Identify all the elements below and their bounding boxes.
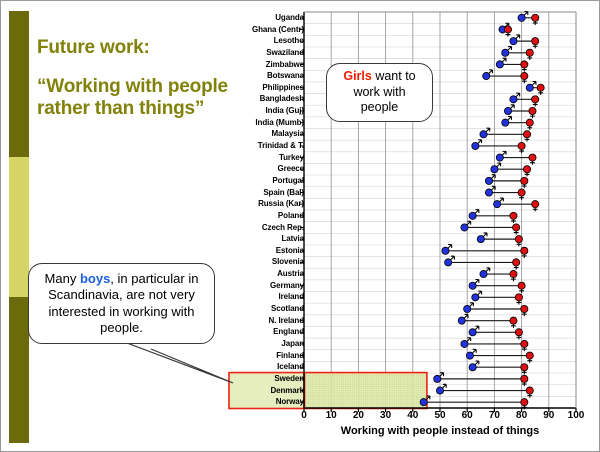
y-axis-label: India (Mumb) <box>229 117 304 129</box>
x-axis-tick-label: 30 <box>380 410 391 421</box>
y-axis-label: Austria <box>229 268 304 280</box>
y-axis-label: Latvia <box>229 233 304 245</box>
x-axis-tick-labels: 0102030405060708090100 <box>1 410 600 424</box>
y-axis-label: Portugal <box>229 175 304 187</box>
y-axis-label: India (Guj) <box>229 105 304 117</box>
y-axis-label: Estonia <box>229 245 304 257</box>
y-axis-label: Russia (Kar) <box>229 198 304 210</box>
y-axis-label: Malaysia <box>229 128 304 140</box>
y-axis-label: Ghana (Centr) <box>229 24 304 36</box>
callout-boys[interactable]: Many boys, in particular in Scandinavia,… <box>28 263 215 344</box>
callout-boys-pre: Many <box>45 271 80 286</box>
y-axis-label: Turkey <box>229 152 304 164</box>
callout-boys-highlight: boys <box>80 271 110 286</box>
x-axis-tick-label: 50 <box>434 410 445 421</box>
x-axis-tick-label: 70 <box>489 410 500 421</box>
y-axis-label: Germany <box>229 280 304 292</box>
x-axis-tick-label: 100 <box>568 410 585 421</box>
x-axis-tick-label: 80 <box>516 410 527 421</box>
y-axis-label: Trinidad & T. <box>229 140 304 152</box>
y-axis-label: Greece <box>229 163 304 175</box>
x-axis-tick-label: 40 <box>407 410 418 421</box>
x-axis-tick-label: 60 <box>462 410 473 421</box>
y-axis-label: Scotland <box>229 303 304 315</box>
callout-girls[interactable]: Girls want to work with people <box>326 63 433 122</box>
x-axis-tick-label: 90 <box>543 410 554 421</box>
y-axis-label: Uganda <box>229 12 304 24</box>
y-axis-label: Spain (Bal) <box>229 187 304 199</box>
y-axis-label: N. Ireland <box>229 315 304 327</box>
x-axis-tick-label: 20 <box>353 410 364 421</box>
x-axis-title: Working with people instead of things <box>304 425 576 437</box>
y-axis-label: Swaziland <box>229 47 304 59</box>
y-axis-label: Lesotho <box>229 35 304 47</box>
y-axis-label: Poland <box>229 210 304 222</box>
y-axis-label: Philippines <box>229 82 304 94</box>
y-axis-label: Botswana <box>229 70 304 82</box>
callout-girls-highlight: Girls <box>343 69 372 83</box>
slide-canvas: Future work: “Working with people rather… <box>0 0 600 452</box>
y-axis-label: Ireland <box>229 291 304 303</box>
x-axis-tick-label: 10 <box>326 410 337 421</box>
x-axis-tick-label: 0 <box>301 410 307 421</box>
y-axis-label: Slovenia <box>229 256 304 268</box>
y-axis-label: Zimbabwe <box>229 59 304 71</box>
y-axis-label: Bangladesh <box>229 93 304 105</box>
y-axis-label: Norway <box>229 396 304 408</box>
y-axis-label: Czech Rep. <box>229 222 304 234</box>
